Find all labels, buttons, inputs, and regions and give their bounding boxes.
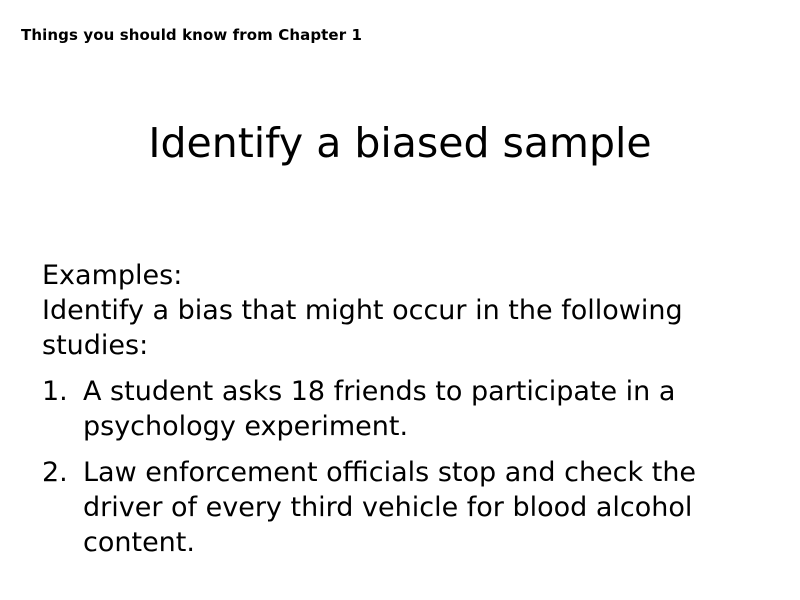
examples-label: Examples: <box>42 258 772 293</box>
instruction-text: Identify a bias that might occur in the … <box>42 293 772 363</box>
slide-body: Examples: Identify a bias that might occ… <box>42 258 772 560</box>
list-item-number: 2. <box>42 455 83 490</box>
presentation-slide: Things you should know from Chapter 1 Id… <box>0 0 800 600</box>
studies-list: 1. A student asks 18 friends to particip… <box>42 374 772 560</box>
list-item: 2. Law enforcement officials stop and ch… <box>42 455 772 560</box>
page-title: Identify a biased sample <box>0 118 800 168</box>
list-item-text: A student asks 18 friends to participate… <box>83 374 771 444</box>
list-item: 1. A student asks 18 friends to particip… <box>42 374 772 444</box>
list-item-number: 1. <box>42 374 83 409</box>
list-item-text: Law enforcement officials stop and check… <box>83 455 771 560</box>
slide-header-text: Things you should know from Chapter 1 <box>21 25 362 45</box>
